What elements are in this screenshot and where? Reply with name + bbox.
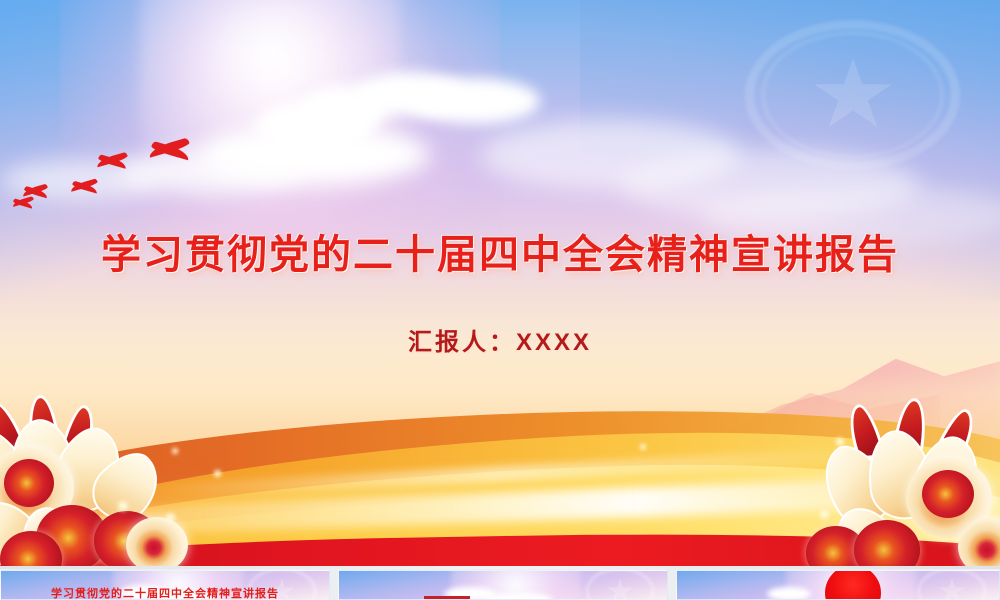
presentation-viewer: 学习贯彻党的二十届四中全会精神宣讲报告 汇报人：XXXX xyxy=(0,0,1000,600)
flower-cluster-right xyxy=(810,400,1000,566)
thumb-star-emblem xyxy=(585,570,655,600)
flower-bloom xyxy=(922,470,974,518)
thumbnail-slide-2[interactable] xyxy=(338,570,668,600)
sparkle xyxy=(118,501,128,511)
page-title: 学习贯彻党的二十届四中全会精神宣讲报告 xyxy=(101,222,899,280)
title-block: 学习贯彻党的二十届四中全会精神宣讲报告 xyxy=(0,222,1000,280)
bird-icon xyxy=(96,152,128,169)
thumb-red-sun-circle xyxy=(825,570,881,600)
presenter-label: 汇报人：XXXX xyxy=(408,322,592,357)
flower-cluster-left xyxy=(0,395,220,566)
thumbnail-strip[interactable]: 学习贯彻党的二十届四中全会精神宣讲报告 xyxy=(0,566,1000,600)
sparkle xyxy=(820,510,829,519)
star-emblem-watermark xyxy=(745,20,960,170)
sparkle xyxy=(640,444,646,450)
thumbnail-caption: 学习贯彻党的二十届四中全会精神宣讲报告 xyxy=(1,585,329,600)
sparkle xyxy=(166,513,175,522)
bird-icon xyxy=(12,196,34,208)
thumb-red-bar xyxy=(424,596,470,599)
flower-bloom xyxy=(4,459,54,507)
subtitle-block: 汇报人：XXXX xyxy=(0,322,1000,357)
thumb-cloud xyxy=(767,587,811,600)
cloud xyxy=(410,78,540,124)
flower-bloom xyxy=(854,520,920,566)
bird-icon xyxy=(70,178,98,193)
thumbnail-slide-1[interactable]: 学习贯彻党的二十届四中全会精神宣讲报告 xyxy=(0,570,330,600)
thumb-star-emblem xyxy=(917,570,987,600)
strip-divider xyxy=(0,566,1000,569)
flower-bloom xyxy=(126,517,188,566)
title-slide[interactable]: 学习贯彻党的二十届四中全会精神宣讲报告 汇报人：XXXX xyxy=(0,0,1000,566)
bird-icon xyxy=(148,138,190,160)
thumbnail-slide-3[interactable] xyxy=(676,570,1000,600)
